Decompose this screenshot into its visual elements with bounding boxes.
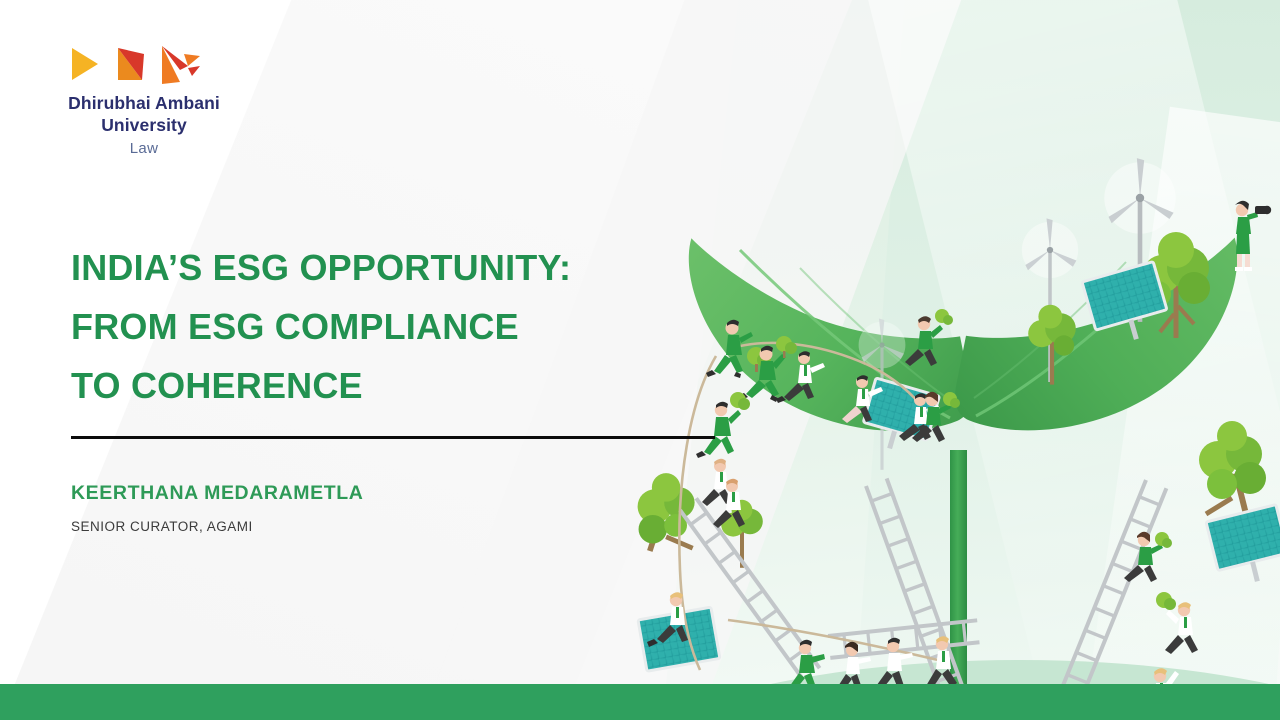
logo-department: Law: [46, 140, 242, 157]
title-slide: Dhirubhai Ambani University Law INDIA’S …: [0, 0, 1280, 720]
logo-institution-line2: University: [46, 114, 242, 136]
title-line-2: FROM ESG COMPLIANCE: [71, 297, 691, 356]
university-logo: Dhirubhai Ambani University Law: [46, 44, 242, 157]
logo-institution-name: Dhirubhai Ambani University: [46, 92, 242, 137]
presenter-name: KEERTHANA MEDARAMETLA: [71, 482, 363, 505]
title-line-3: TO COHERENCE: [71, 356, 691, 415]
presenter-role: SENIOR CURATOR, AGAMI: [71, 519, 253, 534]
slide-title: INDIA’S ESG OPPORTUNITY: FROM ESG COMPLI…: [71, 238, 691, 415]
esg-leaf-illustration: [620, 150, 1280, 720]
title-divider-rule: [71, 436, 715, 439]
title-line-1: INDIA’S ESG OPPORTUNITY:: [71, 238, 691, 297]
footer-band: [0, 684, 1280, 720]
logo-institution-line1: Dhirubhai Ambani: [46, 92, 242, 114]
logo-mark-icon: [64, 44, 204, 84]
